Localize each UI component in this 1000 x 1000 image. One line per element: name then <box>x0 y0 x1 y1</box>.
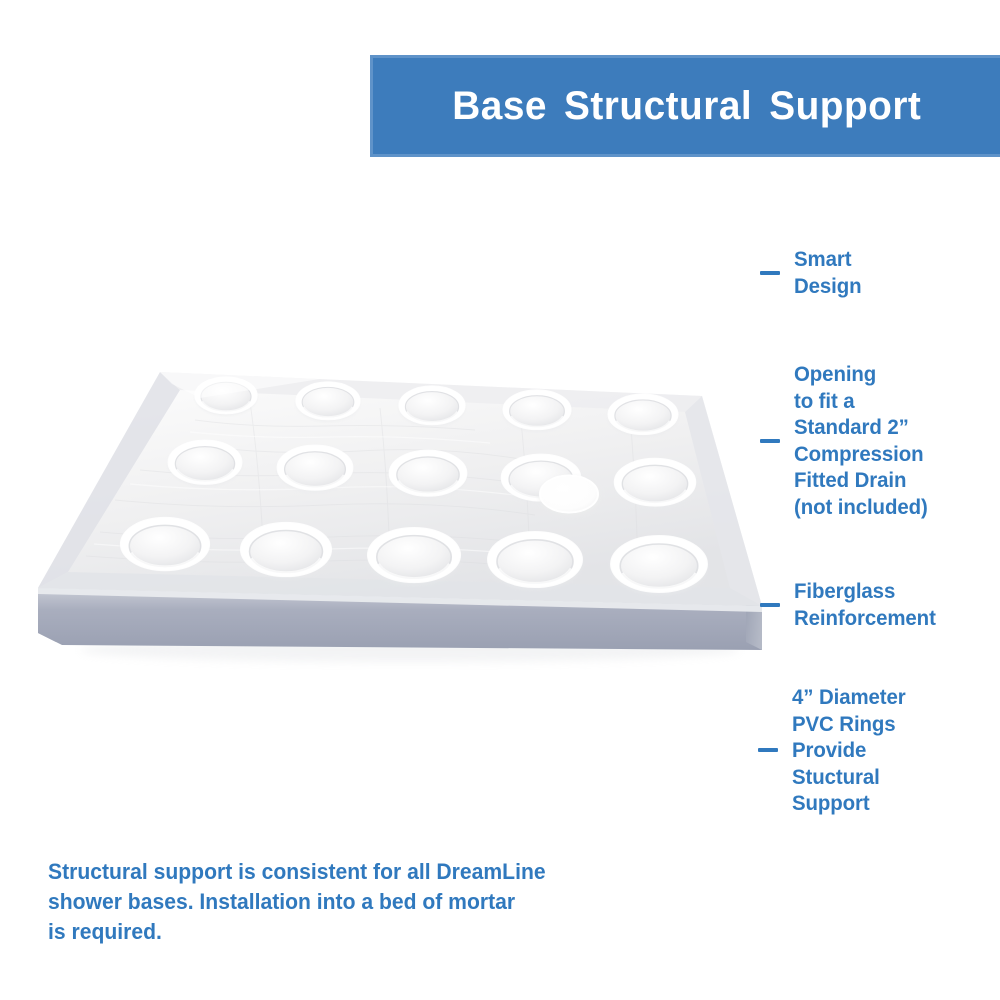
callout-smart-design-label: Smart Design <box>794 246 862 299</box>
bottom-caption: Structural support is consistent for all… <box>48 857 662 947</box>
callout-fiberglass-label: Fiberglass Reinforcement <box>794 578 936 631</box>
shower-base-body <box>38 372 762 650</box>
title-banner: Base Structural Support <box>370 55 1000 157</box>
callout-fiberglass-reinforcement: Fiberglass Reinforcement <box>760 578 943 631</box>
pvc-support-ring <box>368 528 460 585</box>
callout-drain-opening: Opening to fit a Standard 2” Compression… <box>760 361 935 520</box>
page-title: Base Structural Support <box>452 86 921 126</box>
pvc-support-ring <box>389 450 466 498</box>
pvc-support-ring <box>503 390 571 431</box>
pvc-support-ring <box>399 386 465 427</box>
leader-dash-icon <box>758 748 778 752</box>
pvc-support-ring <box>277 445 352 492</box>
callout-pvc-rings: 4” Diameter PVC Rings Provide Stuctural … <box>758 684 912 817</box>
callout-pvc-rings-label: 4” Diameter PVC Rings Provide Stuctural … <box>792 684 906 817</box>
drain-opening <box>539 476 601 517</box>
pvc-support-ring <box>168 440 241 486</box>
pvc-support-ring <box>296 382 360 422</box>
pvc-support-ring <box>121 518 209 573</box>
pvc-support-ring <box>615 459 696 509</box>
pvc-support-ring <box>611 536 707 595</box>
leader-dash-icon <box>760 603 780 607</box>
product-image-shower-base <box>20 350 780 670</box>
leader-dash-icon <box>760 271 780 275</box>
pvc-support-ring <box>241 523 331 579</box>
pvc-support-ring <box>488 532 582 590</box>
callout-smart-design: Smart Design <box>760 246 865 299</box>
pvc-support-ring <box>608 394 678 436</box>
callout-drain-opening-label: Opening to fit a Standard 2” Compression… <box>794 361 928 520</box>
leader-dash-icon <box>760 439 780 443</box>
